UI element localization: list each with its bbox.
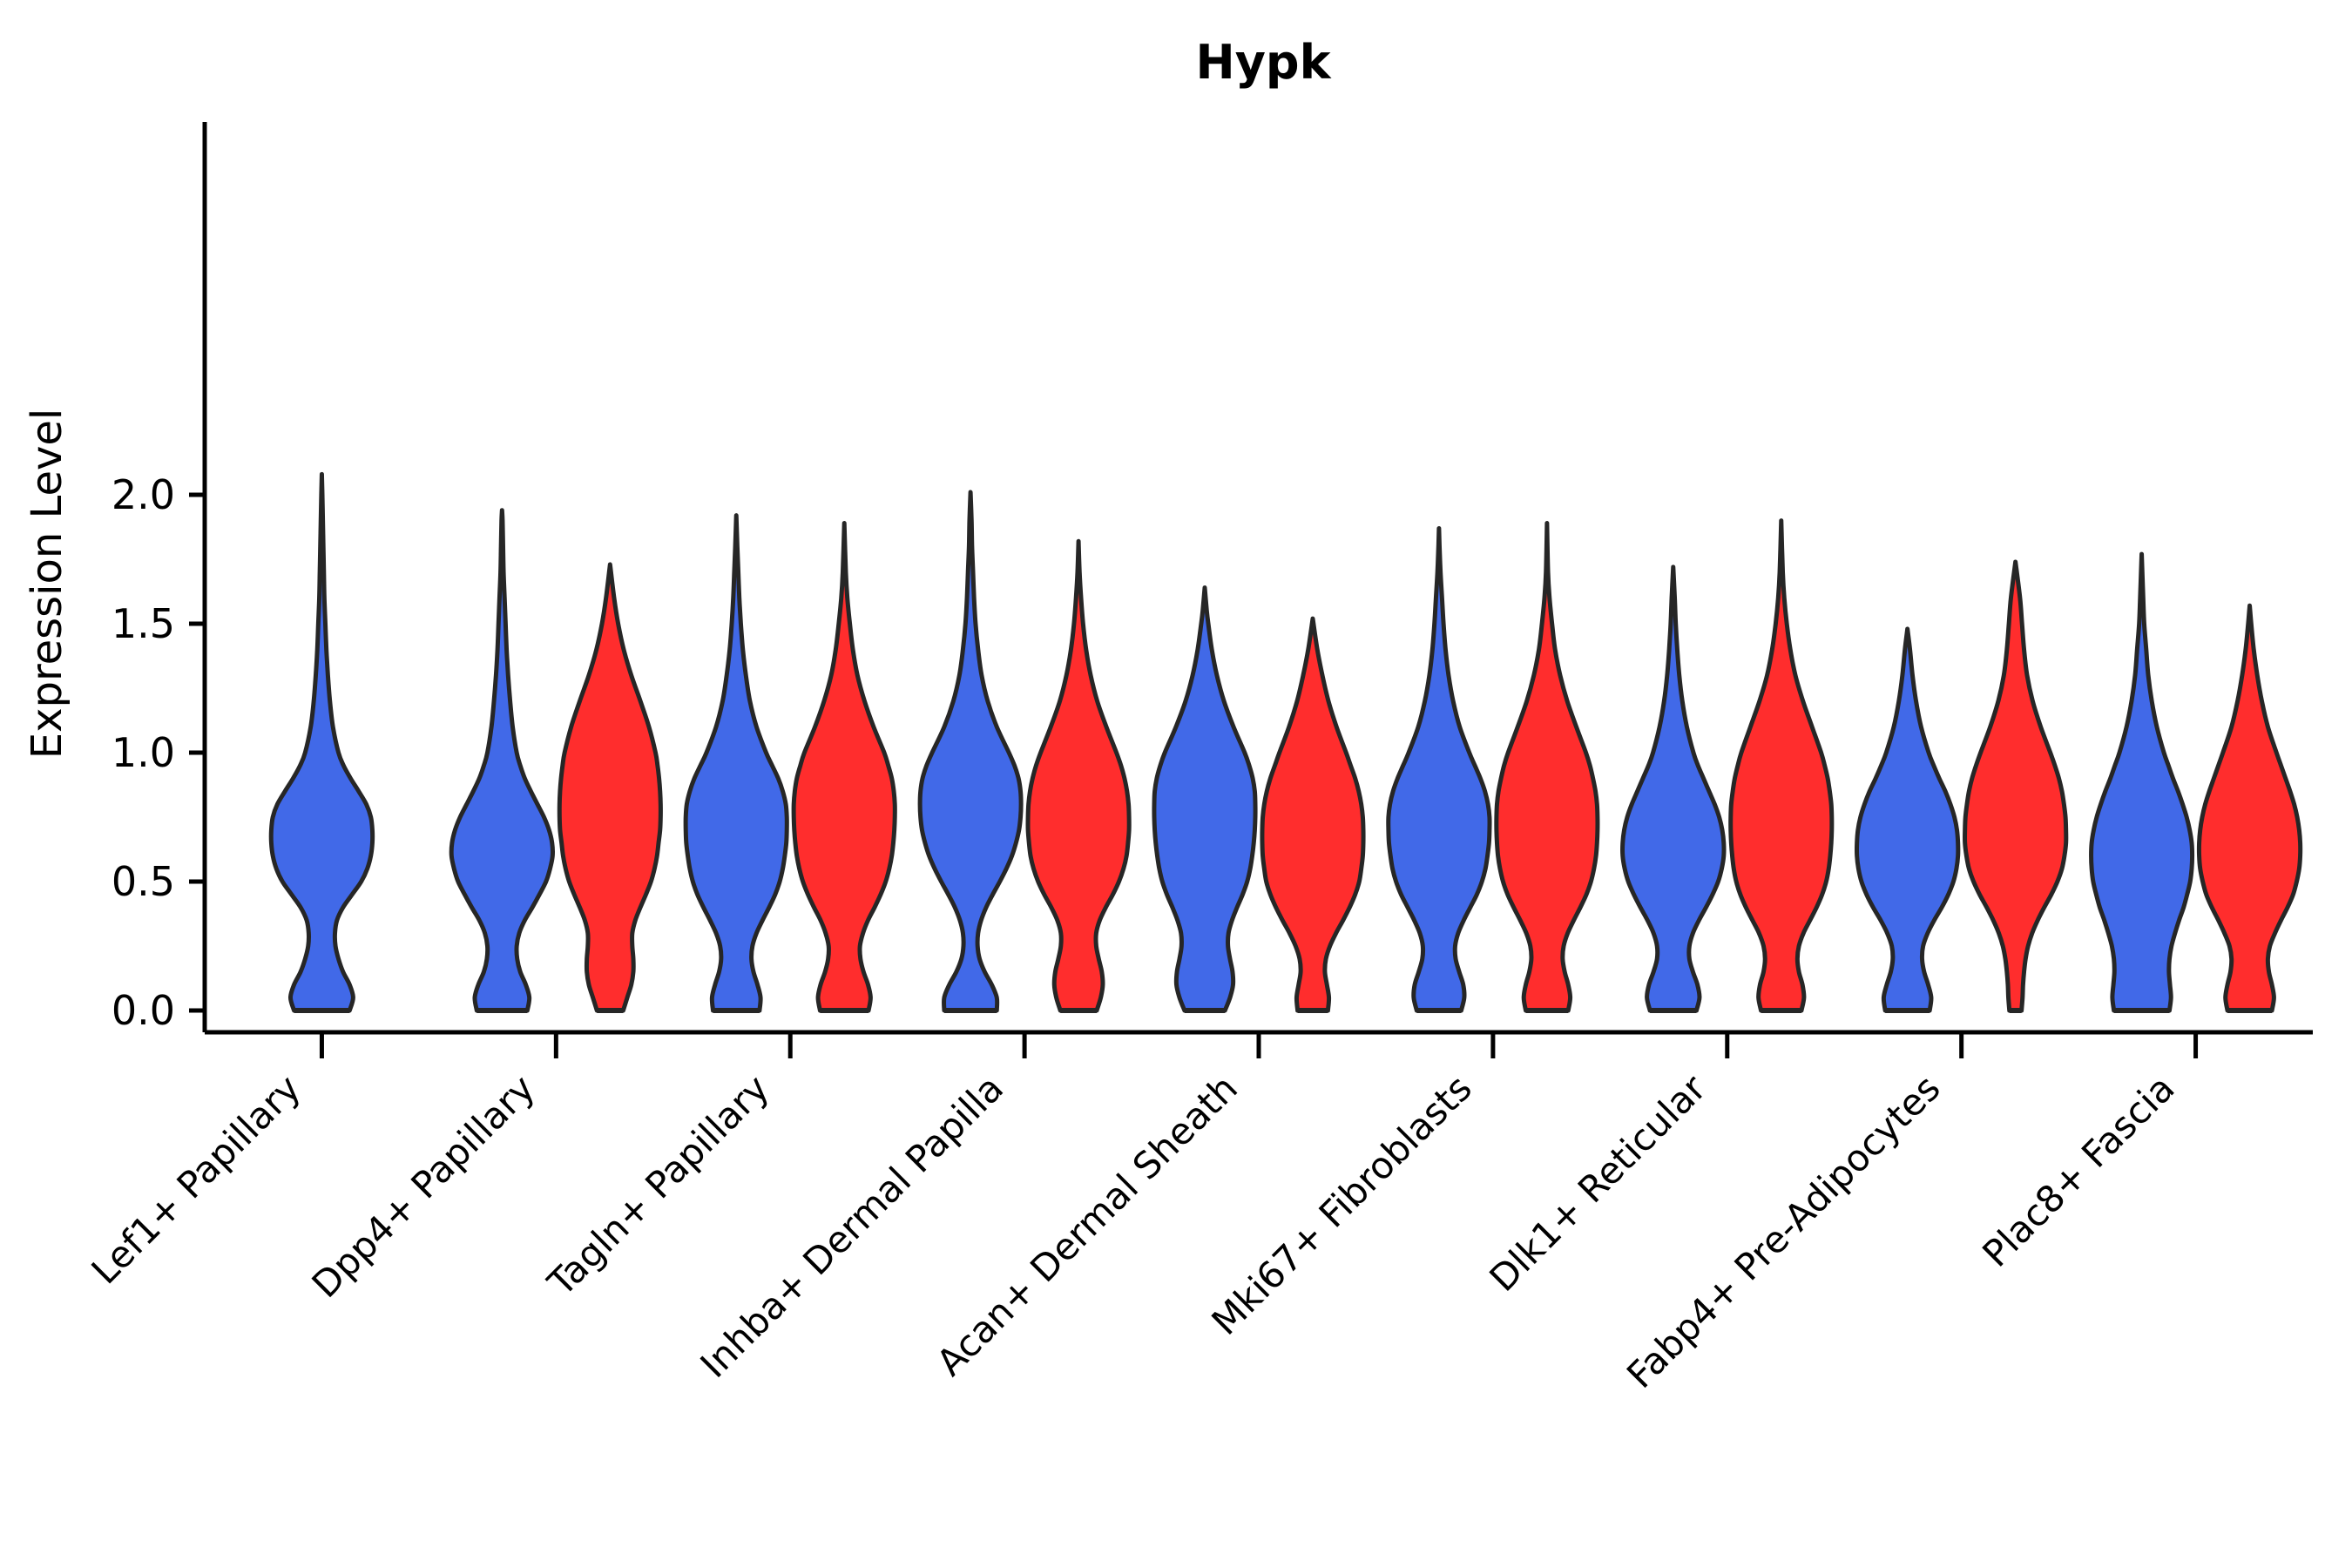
- violin-shape: [559, 564, 660, 1010]
- violin-shape: [1154, 588, 1255, 1010]
- y-tick-label: 1.5: [112, 600, 175, 647]
- violin-shape: [1028, 541, 1129, 1010]
- violin-shape: [1623, 567, 1725, 1010]
- violin-shape: [1262, 618, 1363, 1010]
- violin-shape: [1856, 629, 1957, 1010]
- x-tick-label-group: Lef1+ PapillaryDpp4+ PapillaryTagln+ Pap…: [84, 1066, 2183, 1396]
- violin-shape: [794, 524, 895, 1010]
- violin-shape: [1731, 521, 1832, 1010]
- violin-shape: [271, 474, 372, 1010]
- x-tick-label: Lef1+ Papillary: [84, 1066, 309, 1292]
- violin-group: [271, 474, 2300, 1010]
- violin-shape: [686, 516, 787, 1010]
- x-tick-group: [321, 1032, 2195, 1058]
- y-tick-group: 0.00.51.01.52.0: [112, 471, 205, 1034]
- violin-shape: [1497, 524, 1598, 1010]
- y-tick-label: 0.0: [112, 987, 175, 1034]
- violin-plot-figure: Hypk Expression Level 0.00.51.01.52.0 Le…: [0, 0, 2352, 1568]
- y-tick-label: 2.0: [112, 471, 175, 518]
- y-tick-label: 1.0: [112, 729, 175, 776]
- violin-shape: [2092, 554, 2193, 1010]
- x-tick-label: Plac8+ Fascia: [1974, 1066, 2182, 1274]
- violin-shape: [451, 510, 552, 1010]
- violin-shape: [920, 492, 1021, 1010]
- x-tick-label: Mki67+ Fibroblasts: [1203, 1066, 1479, 1342]
- x-tick-label: Dlk1+ Reticular: [1481, 1066, 1714, 1300]
- x-tick-label: Tagln+ Papillary: [539, 1066, 777, 1304]
- x-tick-label: Dpp4+ Papillary: [304, 1066, 544, 1306]
- chart-title: Hypk: [1196, 35, 1332, 90]
- y-axis-label: Expression Level: [23, 409, 71, 760]
- plot-canvas: Hypk Expression Level 0.00.51.01.52.0 Le…: [0, 0, 2352, 1568]
- violin-shape: [1965, 562, 2066, 1010]
- y-tick-label: 0.5: [112, 858, 175, 905]
- violin-shape: [1389, 528, 1490, 1010]
- violin-shape: [2199, 605, 2300, 1010]
